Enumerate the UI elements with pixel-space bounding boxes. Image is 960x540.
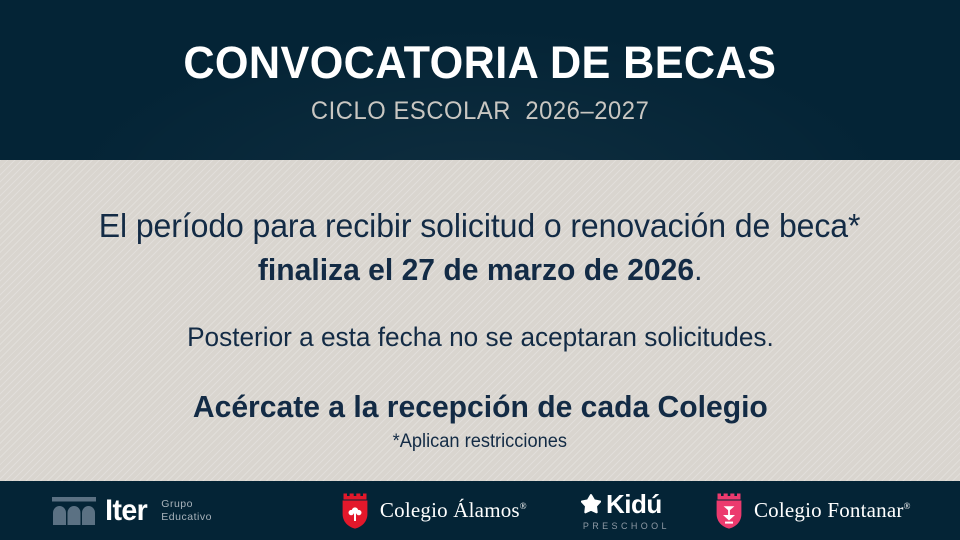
announcement-line-after-deadline: Posterior a esta fecha no se aceptaran s… xyxy=(187,322,774,352)
announcement-line-deadline: finaliza el 27 de marzo de 2026. xyxy=(258,253,703,288)
kidu-star-icon xyxy=(581,494,601,514)
alamos-crest-icon xyxy=(340,493,370,529)
announcement-line-period: El período para recibir solicitud o reno… xyxy=(99,208,861,245)
kidu-tagline: PRESCHOOL xyxy=(583,522,670,531)
iter-wordmark: Iter xyxy=(105,496,147,526)
iter-tagline-line-2: Educativo xyxy=(161,511,212,524)
logo-kidu: Kidú PRESCHOOL xyxy=(573,491,670,531)
page-subtitle: CICLO ESCOLAR 2026–2027 xyxy=(311,97,649,126)
fontanar-name-text: Colegio Fontanar xyxy=(754,498,904,522)
poster-footer: Iter Grupo Educativo xyxy=(0,481,960,540)
page-title: CONVOCATORIA DE BECAS xyxy=(184,40,777,86)
poster-header: CONVOCATORIA DE BECAS CICLO ESCOLAR 2026… xyxy=(0,0,960,160)
kidu-wordmark: Kidú xyxy=(606,491,662,517)
scholarship-announcement-poster: CONVOCATORIA DE BECAS CICLO ESCOLAR 2026… xyxy=(0,0,960,540)
kidu-row: Kidú xyxy=(581,491,662,517)
alamos-trademark: ® xyxy=(520,501,527,511)
deadline-date-text: finaliza el 27 de marzo de 2026 xyxy=(258,252,694,287)
logo-colegio-fontanar: Colegio Fontanar® xyxy=(714,493,911,529)
poster-body: El período para recibir solicitud o reno… xyxy=(0,160,960,481)
restrictions-note: *Aplican restricciones xyxy=(393,431,567,452)
fontanar-trademark: ® xyxy=(904,501,911,511)
logo-colegio-alamos: Colegio Álamos® xyxy=(340,493,527,529)
fontanar-crest-icon xyxy=(714,493,744,529)
alamos-name: Colegio Álamos® xyxy=(380,500,527,521)
announcement-call-to-action: Acércate a la recepción de cada Colegio xyxy=(193,390,768,425)
iter-arches-icon xyxy=(52,497,96,525)
iter-tagline: Grupo Educativo xyxy=(161,498,212,524)
fontanar-name: Colegio Fontanar® xyxy=(754,500,911,521)
logo-iter: Iter Grupo Educativo xyxy=(52,496,212,526)
deadline-period-mark: . xyxy=(694,252,702,287)
alamos-name-text: Colegio Álamos xyxy=(380,498,520,522)
iter-tagline-line-1: Grupo xyxy=(161,498,212,511)
